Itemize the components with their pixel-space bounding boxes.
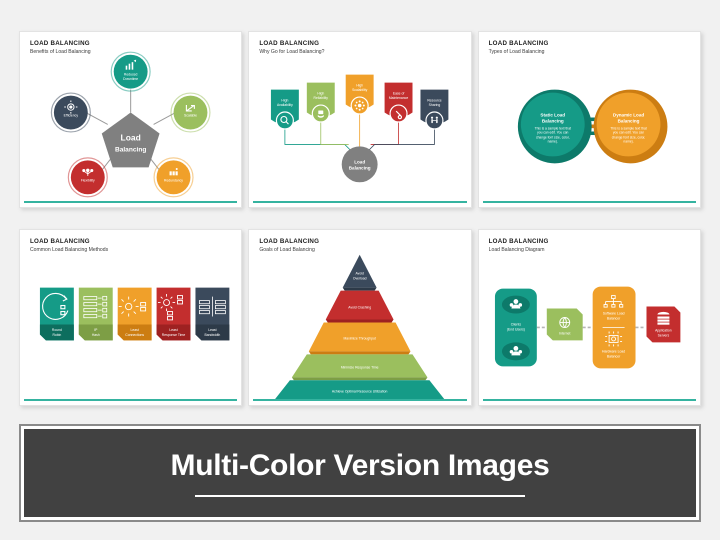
tier-label-line2: Overload: [353, 277, 367, 281]
methods-diagram: Round Robin IP Hash: [20, 230, 241, 405]
server-stack-icon: [657, 312, 669, 325]
node-label-line1: Redundancy: [164, 178, 183, 182]
flow-node-application-servers[interactable]: Application Servers: [646, 307, 680, 343]
type-body-text: This is a sample text that you can edit.…: [532, 126, 572, 144]
flow-node-clients[interactable]: Clients (End Users): [495, 289, 537, 367]
center-label-line1: Load: [355, 159, 366, 164]
flow-node-load-balancers[interactable]: Software Load Balancer Hardware Load Bal…: [592, 287, 635, 369]
shield-label-line1: High: [282, 99, 289, 103]
banner-inner: Multi-Color Version Images: [24, 429, 696, 517]
slide-why-go-for[interactable]: LOAD BALANCING Why Go for Load Balancing…: [248, 31, 471, 208]
tier-label-line1: Minimize Response Time: [341, 365, 379, 369]
slide-accent-bar: [24, 201, 237, 203]
shield-label-line1: High: [318, 92, 325, 96]
method-card-round-robin[interactable]: Round Robin: [40, 288, 74, 341]
center-label-line1: Load: [121, 132, 141, 142]
center-label-line2: Balancing: [349, 165, 371, 170]
slide-methods[interactable]: LOAD BALANCING Common Load Balancing Met…: [19, 229, 242, 406]
slide-goals[interactable]: LOAD BALANCING Goals of Load Balancing A…: [248, 229, 471, 406]
pyramid-tier-avoid-crashing[interactable]: Avoid Crashing: [326, 291, 394, 323]
pyramid-tier-achieve-optimal-resource-utilization[interactable]: Achieve Optimal Resource Utilization: [275, 380, 444, 399]
method-card-least-response-time[interactable]: Least Response Time: [157, 288, 191, 341]
banner-underline: [195, 495, 525, 497]
shield-label-line2: Availability: [277, 103, 293, 107]
method-label-line1: Least: [169, 328, 177, 332]
flow-diagram: Clients (End Users) Internet Software Lo…: [479, 230, 700, 405]
method-label-line1: Least: [208, 328, 216, 332]
flow-label-line1: Internet: [559, 331, 571, 335]
node-label-line1: Efficiency: [64, 114, 79, 118]
method-label-line2: Hash: [92, 333, 100, 337]
shield-label-line2: Scalability: [352, 88, 368, 92]
slide-accent-bar: [253, 399, 466, 401]
shield-high-reliability[interactable]: High Reliability: [307, 83, 335, 122]
shield-label-line1: Ease of: [393, 92, 405, 96]
method-card-least-connections[interactable]: Least Connections: [118, 288, 152, 341]
pyramid-tier-maximize-throughput[interactable]: Maximize Throughput: [309, 322, 411, 354]
node-label-line1: Reduced: [124, 73, 138, 77]
flow-label-line2: Servers: [657, 333, 669, 337]
shield-label-line1: High: [357, 84, 364, 88]
why-go-diagram: High Availability High Reliability: [249, 32, 470, 207]
node-label-line1: Scalable: [184, 114, 197, 118]
method-label-line1: Round: [52, 328, 62, 332]
tier-label-line1: Avoid Crashing: [349, 306, 372, 310]
shield-high-scalability[interactable]: High Scalability: [346, 75, 374, 114]
slide-diagram[interactable]: LOAD BALANCING Load Balancing Diagram Cl…: [478, 229, 701, 406]
banner-title: Multi-Color Version Images: [171, 449, 550, 483]
benefit-node-efficiency[interactable]: Efficiency: [51, 93, 90, 132]
shield-label-line2: Sharing: [429, 103, 441, 107]
center-label-line2: Balancing: [115, 146, 146, 153]
flow-label-line1: Clients: [510, 322, 521, 326]
method-label-line2: Connections: [125, 333, 144, 337]
shield-high-availability[interactable]: High Availability: [271, 90, 299, 129]
method-label-line2: Robin: [52, 333, 61, 337]
slide-grid: LOAD BALANCING Benefits of Load Balancin…: [19, 31, 701, 406]
method-label-line2: Bandwidth: [205, 333, 221, 337]
goals-pyramid: Avoid Overload Avoid Crashing Maximize T…: [249, 230, 470, 405]
benefit-node-reduced-downtime[interactable]: Reduced Downtime: [111, 52, 150, 91]
flow-label-line2: Balancer: [607, 316, 621, 320]
flow-label-line1: Application: [655, 328, 672, 332]
tier-label-line1: Maximize Throughput: [344, 336, 376, 340]
center-node-load-balancing[interactable]: Load Balancing: [342, 146, 378, 182]
shield-ease-of-maintenance[interactable]: Ease of Maintenance: [385, 83, 413, 122]
pyramid-tier-avoid-overload[interactable]: Avoid Overload: [343, 255, 377, 291]
flow-label-line2: (End Users): [507, 327, 525, 331]
type-label-line2: Balancing: [541, 118, 563, 123]
flow-node-internet[interactable]: Internet: [546, 309, 582, 341]
types-diagram: Static Load Balancing This is a sample t…: [479, 32, 700, 207]
slide-benefits[interactable]: LOAD BALANCING Benefits of Load Balancin…: [19, 31, 242, 208]
node-label-line1: Flexibility: [81, 178, 95, 182]
slide-accent-bar: [483, 201, 696, 203]
flow-label-line1: Hardware Load: [602, 349, 625, 353]
bottom-banner: Multi-Color Version Images: [19, 424, 701, 522]
type-body-text: This is a sample text that you can edit.…: [608, 126, 648, 144]
method-card-ip-hash[interactable]: IP Hash: [79, 288, 113, 341]
shield-label-line2: Reliability: [314, 96, 329, 100]
method-card-least-bandwidth[interactable]: Least Bandwidth: [195, 288, 229, 341]
type-label-line1: Static Load: [540, 113, 565, 118]
benefit-node-flexibility[interactable]: Flexibility: [68, 158, 107, 197]
type-label-line2: Balancing: [617, 118, 639, 123]
slide-accent-bar: [483, 399, 696, 401]
pyramid-tier-minimize-response-time[interactable]: Minimize Response Time: [292, 354, 428, 380]
flow-label-line1: Software Load: [602, 312, 624, 316]
shield-resource-sharing[interactable]: Resource Sharing: [421, 90, 449, 129]
method-label-line2: Response Time: [162, 333, 186, 337]
type-node-dynamic[interactable]: Dynamic Load Balancing This is a sample …: [593, 90, 667, 164]
benefits-diagram: Load Balancing Reduced Downtime: [20, 32, 241, 207]
tier-label-line1: Avoid: [356, 272, 365, 276]
type-node-static[interactable]: Static Load Balancing This is a sample t…: [518, 90, 592, 164]
type-label-line1: Dynamic Load: [613, 113, 644, 118]
tier-label-line1: Achieve Optimal Resource Utilization: [332, 389, 388, 393]
benefit-node-scalable[interactable]: Scalable: [171, 93, 210, 132]
slide-accent-bar: [24, 399, 237, 401]
node-label-line2: Downtime: [123, 77, 138, 81]
method-label-line1: Least: [131, 328, 139, 332]
slide-accent-bar: [253, 201, 466, 203]
slide-types[interactable]: LOAD BALANCING Types of Load Balancing S…: [478, 31, 701, 208]
shield-label-line2: Maintenance: [389, 96, 408, 100]
flow-label-line2: Balancer: [607, 354, 621, 358]
shield-label-line1: Resource: [428, 99, 443, 103]
benefit-node-redundancy[interactable]: Redundancy: [154, 158, 193, 197]
